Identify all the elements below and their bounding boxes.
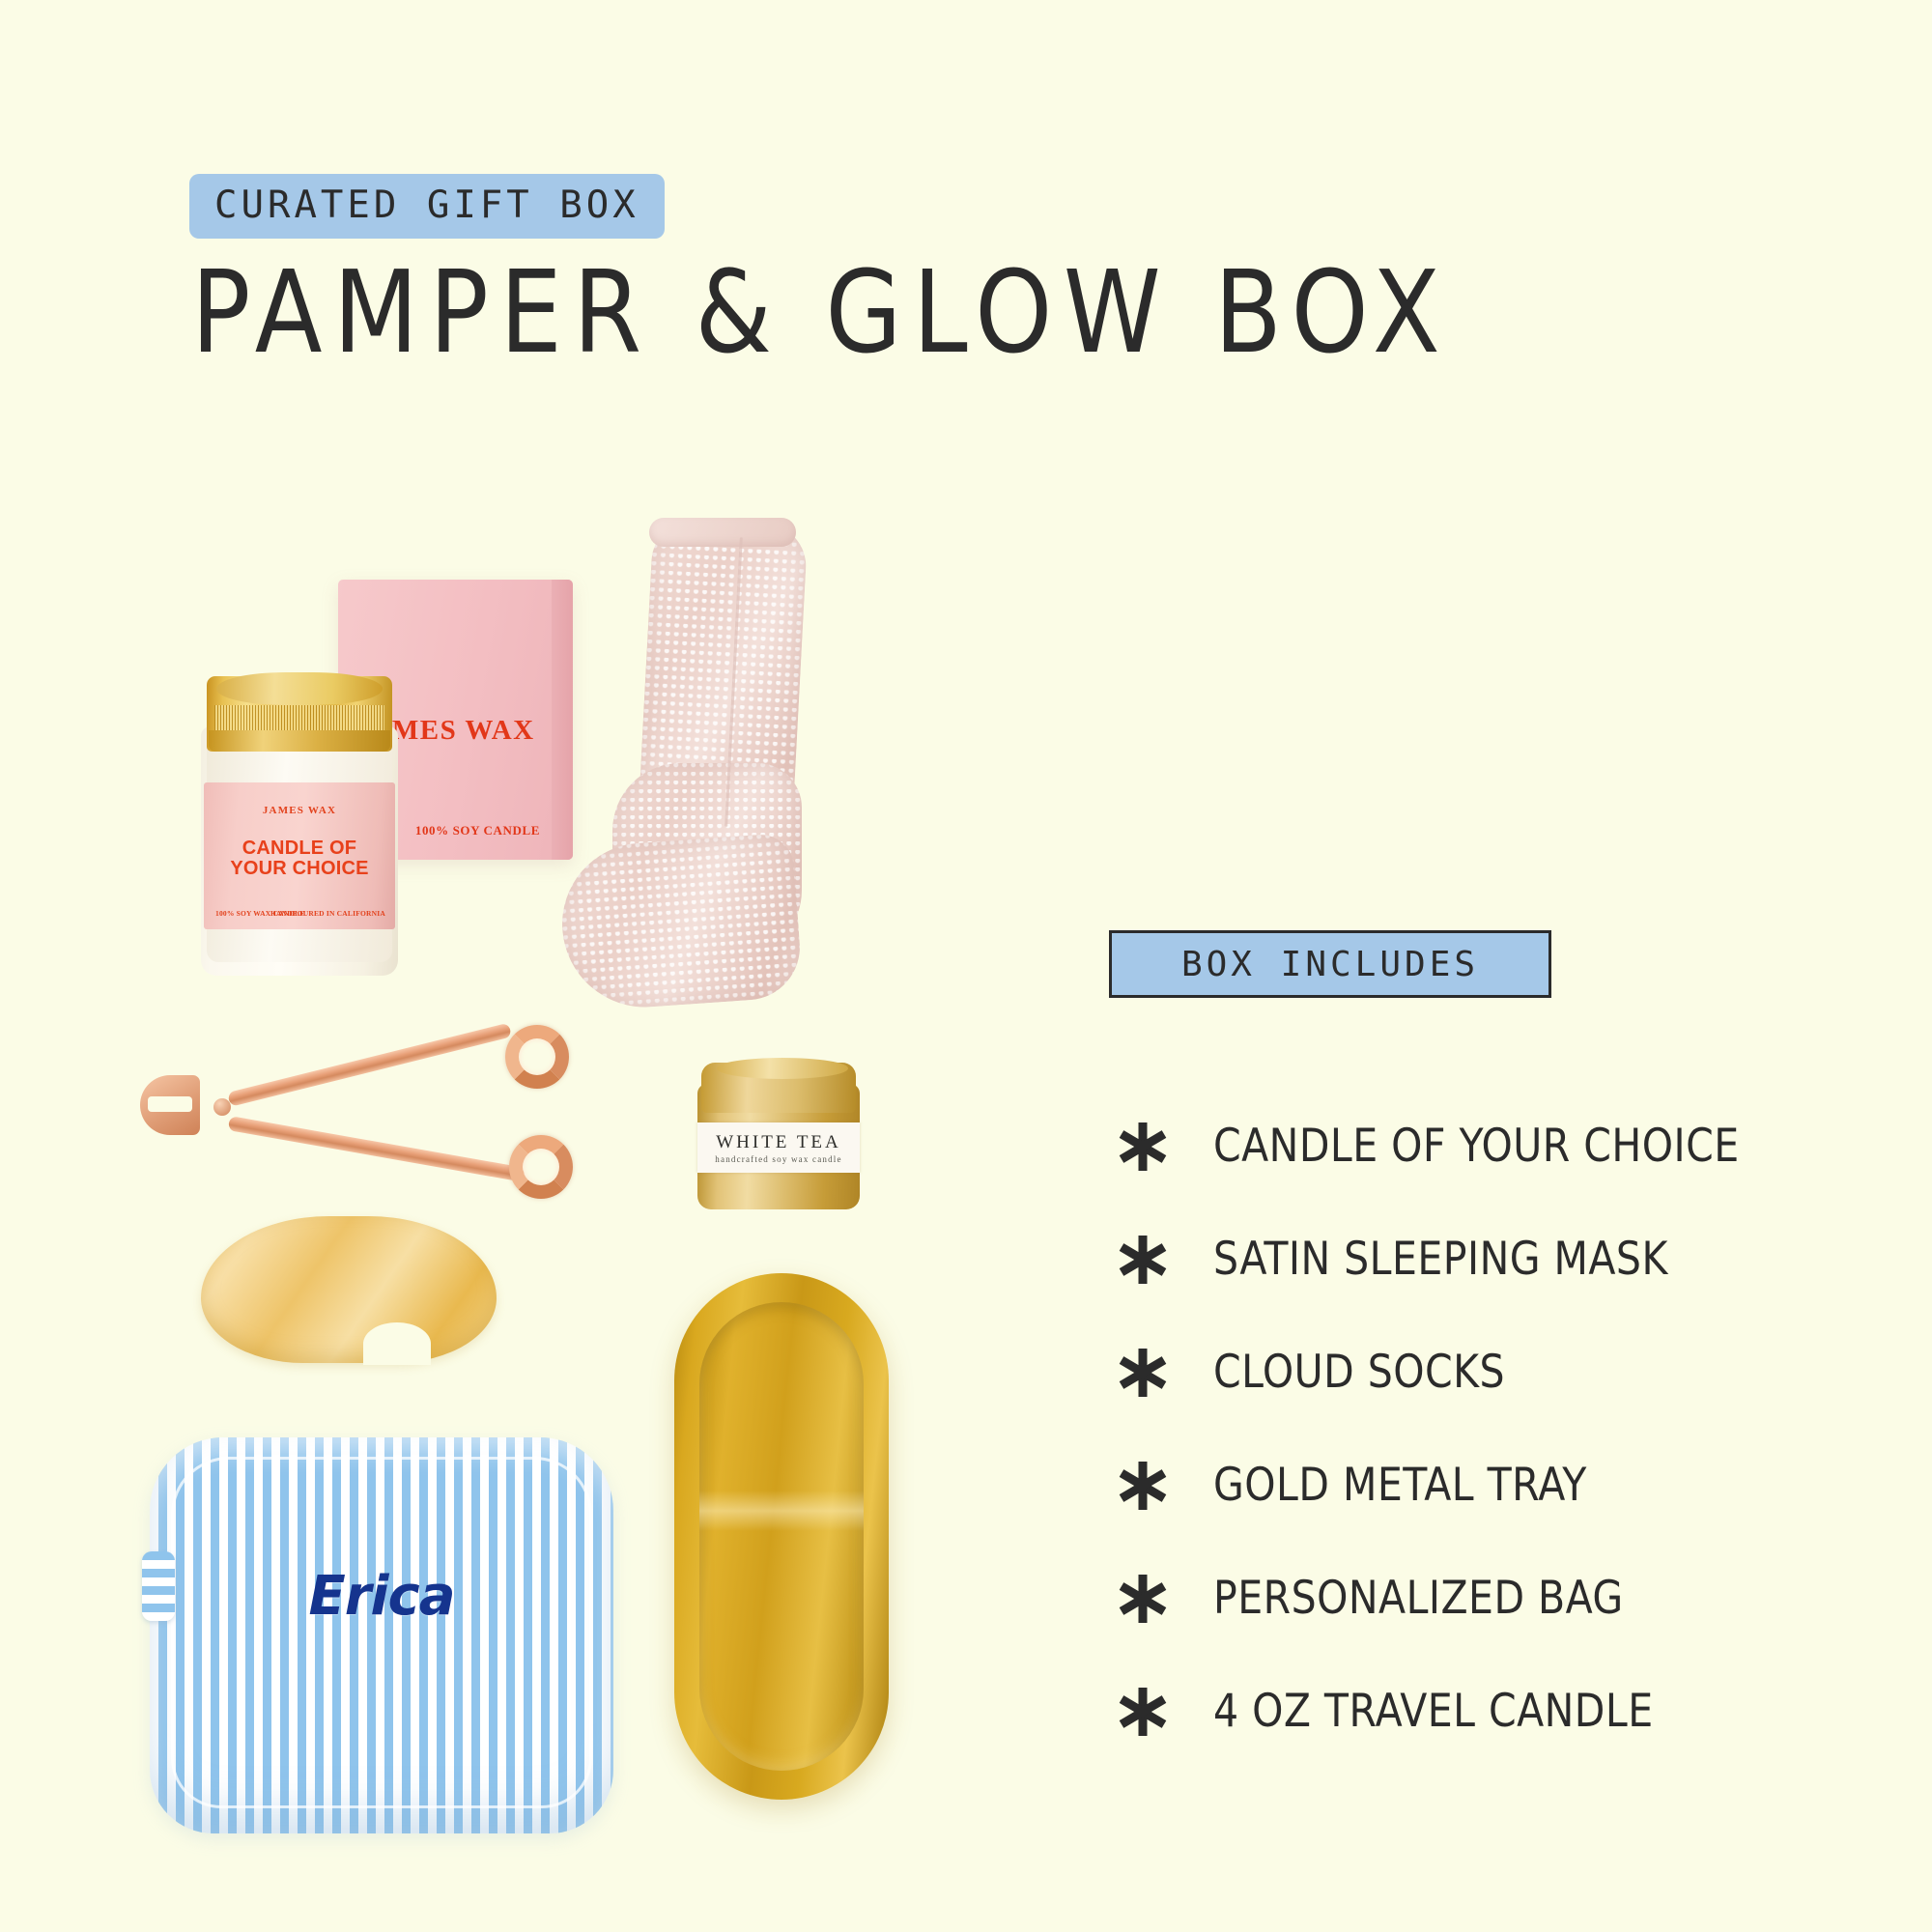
list-item: PERSONALIZED BAG bbox=[1107, 1542, 1870, 1655]
asterisk-icon bbox=[1107, 1346, 1179, 1400]
list-item-label: CLOUD SOCKS bbox=[1213, 1346, 1505, 1399]
list-item: CANDLE OF YOUR CHOICE bbox=[1107, 1090, 1870, 1203]
satin-sleeping-mask bbox=[155, 1203, 541, 1386]
candle-jar: JAMES WAX CANDLE OF YOUR CHOICE 100% SOY… bbox=[201, 676, 398, 976]
asterisk-icon bbox=[1107, 1233, 1179, 1287]
box-includes-list: CANDLE OF YOUR CHOICE SATIN SLEEPING MAS… bbox=[1107, 1090, 1870, 1768]
list-item: CLOUD SOCKS bbox=[1107, 1316, 1870, 1429]
list-item: 4 OZ TRAVEL CANDLE bbox=[1107, 1655, 1870, 1768]
trimmer-pivot-screw bbox=[213, 1098, 231, 1116]
trimmer-upper-ring bbox=[505, 1025, 569, 1089]
jar-lid-top bbox=[216, 672, 383, 705]
jar-main-text: CANDLE OF YOUR CHOICE bbox=[204, 838, 395, 879]
tray-well bbox=[699, 1302, 864, 1771]
jar-lid-knurling bbox=[214, 705, 384, 730]
trimmer-upper-arm bbox=[227, 1023, 512, 1107]
list-item-label: GOLD METAL TRAY bbox=[1213, 1459, 1587, 1512]
eyebrow-badge: CURATED GIFT BOX bbox=[189, 174, 665, 239]
tin-lid-top bbox=[717, 1058, 848, 1079]
asterisk-icon bbox=[1107, 1685, 1179, 1739]
list-item: GOLD METAL TRAY bbox=[1107, 1429, 1870, 1542]
jar-main-line-1: CANDLE OF bbox=[204, 838, 395, 859]
gold-metal-tray bbox=[674, 1273, 889, 1800]
personalized-bag: Erica bbox=[150, 1437, 613, 1833]
sock-foot bbox=[556, 833, 803, 1013]
gift-box-promo-graphic: CURATED GIFT BOX PAMPER & GLOW BOX JAMES… bbox=[0, 0, 1932, 1932]
tin-scent-name: WHITE TEA bbox=[697, 1132, 860, 1153]
sock-cuff bbox=[649, 518, 796, 547]
pouch-piping bbox=[171, 1457, 592, 1808]
trimmer-lower-arm bbox=[228, 1116, 526, 1182]
travel-candle-tin: WHITE TEA handcrafted soy wax candle bbox=[697, 1063, 860, 1217]
jar-footer-right-text: HANDPOURED IN CALIFORNIA bbox=[270, 909, 385, 918]
wick-trimmer bbox=[140, 1019, 594, 1207]
cloud-socks bbox=[560, 522, 850, 1043]
asterisk-icon bbox=[1107, 1572, 1179, 1626]
tray-sheen-highlight bbox=[699, 1491, 864, 1531]
mask-body bbox=[201, 1216, 497, 1363]
tin-label: WHITE TEA handcrafted soy wax candle bbox=[697, 1122, 860, 1173]
page-title: PAMPER & GLOW BOX bbox=[191, 253, 1451, 373]
list-item-label: SATIN SLEEPING MASK bbox=[1213, 1233, 1668, 1286]
list-item-label: CANDLE OF YOUR CHOICE bbox=[1213, 1120, 1740, 1173]
jar-lid-rim bbox=[209, 730, 390, 752]
list-item-label: 4 OZ TRAVEL CANDLE bbox=[1213, 1685, 1654, 1738]
trimmer-head-gap bbox=[148, 1096, 192, 1112]
trimmer-lower-ring bbox=[509, 1135, 573, 1199]
box-includes-heading: BOX INCLUDES bbox=[1109, 930, 1551, 998]
list-item-label: PERSONALIZED BAG bbox=[1213, 1572, 1624, 1625]
list-item: SATIN SLEEPING MASK bbox=[1107, 1203, 1870, 1316]
retail-box-footer-text: 100% SOY CANDLE bbox=[415, 823, 540, 838]
asterisk-icon bbox=[1107, 1120, 1179, 1174]
asterisk-icon bbox=[1107, 1459, 1179, 1513]
jar-label: JAMES WAX CANDLE OF YOUR CHOICE 100% SOY… bbox=[204, 782, 395, 929]
tin-lid bbox=[701, 1063, 856, 1113]
jar-brand-text: JAMES WAX bbox=[204, 805, 395, 816]
jar-gold-lid bbox=[207, 676, 392, 752]
tin-subtitle: handcrafted soy wax candle bbox=[697, 1154, 860, 1164]
pouch-embroidered-name: Erica bbox=[150, 1565, 613, 1628]
mask-nose-notch bbox=[363, 1322, 431, 1365]
jar-main-line-2: YOUR CHOICE bbox=[204, 859, 395, 879]
